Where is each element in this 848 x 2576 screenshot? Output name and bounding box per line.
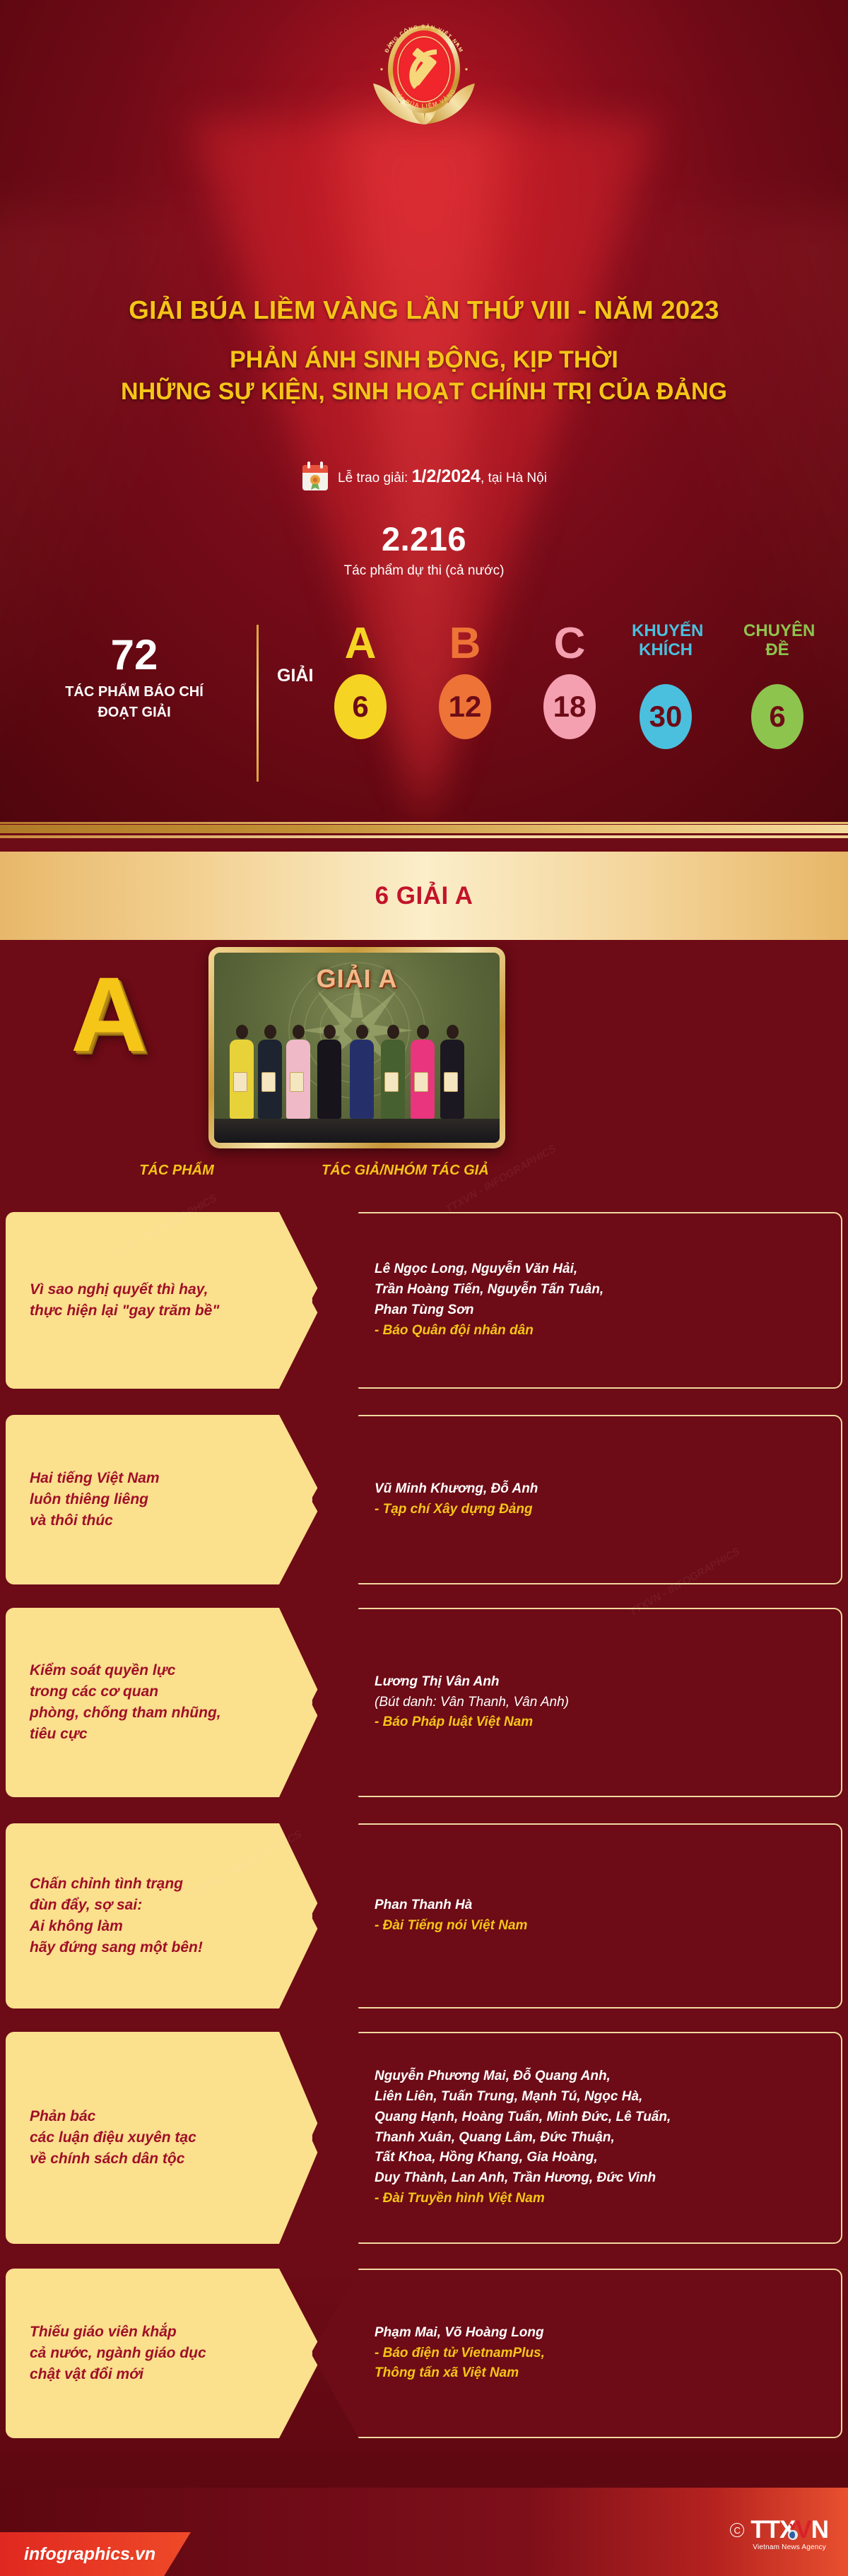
page-title-line1: GIẢI BÚA LIỀM VÀNG LẦN THỨ VIII - NĂM 20… <box>0 295 848 325</box>
certificate-icon <box>444 1072 458 1092</box>
award-work-title-line: cả nước, ngành giáo dục <box>30 2343 206 2364</box>
prize-badge-label: KHUYẾNKHÍCH <box>632 622 700 660</box>
agency-logo-text: TTXVN Vietnam News Agency <box>750 2517 828 2551</box>
prize-badge-label: CHUYÊNĐỀ <box>743 622 811 660</box>
award-work-title-line: Hai tiếng Việt Nam <box>30 1468 160 1489</box>
award-work-title-line: về chính sách dân tộc <box>30 2148 196 2170</box>
ceremony-prefix: Lễ trao giải: <box>338 471 412 486</box>
award-row: Vì sao nghị quyết thì hay,thực hiện lại … <box>0 1212 848 1389</box>
prize-badge-label: A <box>326 622 394 666</box>
band-line-1 <box>0 822 848 824</box>
photo-person-head <box>324 1025 336 1039</box>
prize-badge-5: CHUYÊNĐỀ6 <box>743 622 811 660</box>
total-awarded-caption: TÁC PHẨM BÁO CHÍ ĐOẠT GIẢI <box>21 682 247 723</box>
award-authors: Lương Thị Vân Anh <box>375 1672 569 1693</box>
award-author-card: Vũ Minh Khương, Đỗ Anh- Tạp chí Xây dựng… <box>311 1415 842 1584</box>
photo-person-head <box>264 1025 276 1039</box>
photo-person <box>411 1025 435 1119</box>
photo-person <box>258 1025 282 1119</box>
award-work-card: Phản báccác luận điệu xuyên tạcvề chính … <box>6 2032 324 2244</box>
total-awarded-caption-1: TÁC PHẨM BÁO CHÍ <box>21 682 247 702</box>
award-row: Phản báccác luận điệu xuyên tạcvề chính … <box>0 2032 848 2244</box>
award-author-card: Phan Thanh Hà- Đài Tiếng nói Việt Nam <box>311 1823 842 2009</box>
award-authors: Phan Thanh Hà <box>375 1895 527 1916</box>
award-work-title-line: các luận điệu xuyên tạc <box>30 2127 196 2148</box>
award-work-title-line: Kiểm soát quyền lực <box>30 1660 221 1681</box>
award-outlet-line: - Đài Tiếng nói Việt Nam <box>375 1916 527 1936</box>
award-authors-line: Thanh Xuân, Quang Lâm, Đức Thuận, <box>375 2128 671 2148</box>
award-work-title: Thiếu giáo viên khắpcả nước, ngành giáo … <box>6 2322 263 2384</box>
award-work-title: Vì sao nghị quyết thì hay,thực hiện lại … <box>6 1279 276 1322</box>
prize-badge-label: B <box>431 622 499 666</box>
prize-badge-count: 30 <box>640 684 692 749</box>
award-author-card: Nguyễn Phương Mai, Đỗ Quang Anh,Liên Liê… <box>311 2032 842 2244</box>
photo-person <box>381 1025 405 1119</box>
award-author-card: Lê Ngọc Long, Nguyễn Văn Hải,Trần Hoàng … <box>311 1212 842 1389</box>
award-outlet-line: - Báo điện tử VietnamPlus, <box>375 2343 545 2364</box>
award-work-card: Thiếu giáo viên khắpcả nước, ngành giáo … <box>6 2269 324 2438</box>
award-authors: Lê Ngọc Long, Nguyễn Văn Hải,Trần Hoàng … <box>375 1259 603 1321</box>
ceremony-date-row: Lễ trao giải: 1/2/2024, tại Hà Nội <box>0 461 848 492</box>
calendar-icon <box>301 461 329 492</box>
prize-badge-count: 6 <box>751 684 803 749</box>
photo-person <box>317 1025 341 1119</box>
ceremony-date: 1/2/2024 <box>412 466 481 486</box>
photo-person <box>350 1025 374 1119</box>
award-work-card: Kiểm soát quyền lựctrong các cơ quanphòn… <box>6 1608 324 1797</box>
band-line-2 <box>0 825 848 833</box>
site-url: infographics.vn <box>0 2544 155 2565</box>
photo-person <box>440 1025 464 1119</box>
award-author-card: Phạm Mai, Võ Hoàng Long- Báo điện tử Vie… <box>311 2269 842 2438</box>
award-work-title-line: thực hiện lại "gay trăm bề" <box>30 1300 219 1322</box>
page-title-line2b: NHỮNG SỰ KIỆN, SINH HOẠT CHÍNH TRỊ CỦA Đ… <box>0 376 848 408</box>
award-author-text: Lương Thị Vân Anh(Bút danh: Vân Thanh, V… <box>312 1672 587 1734</box>
page-footer: infographics.vn C TTXVN Vietnam News Age… <box>0 2488 848 2576</box>
entries-count: 2.216 <box>0 519 848 558</box>
award-authors-line: Duy Thành, Lan Anh, Trần Hương, Đức Vinh <box>375 2168 671 2189</box>
photo-person-head <box>387 1025 399 1039</box>
award-photo-inner: GIẢI A <box>214 953 500 1143</box>
award-work-title: Kiểm soát quyền lựctrong các cơ quanphòn… <box>6 1660 278 1744</box>
award-penname-line: (Bút danh: Vân Thanh, Vân Anh) <box>375 1693 569 1713</box>
column-header-author: TÁC GIẢ/NHÓM TÁC GIẢ <box>322 1163 489 1179</box>
award-work-title-line: chật vật đổi mới <box>30 2364 206 2385</box>
award-outlet: - Báo điện tử VietnamPlus,Thông tấn xã V… <box>375 2343 545 2384</box>
award-outlet: - Tạp chí Xây dựng Đảng <box>375 1500 538 1520</box>
photo-person-body <box>317 1040 341 1119</box>
prize-badge-label2: ĐỀ <box>743 641 811 660</box>
watermark: TTXVN - INFOGRAPHICS <box>444 1143 558 1216</box>
prize-badge-1: A6 <box>326 622 394 666</box>
award-author-text: Nguyễn Phương Mai, Đỗ Quang Anh,Liên Liê… <box>312 2066 689 2209</box>
award-work-card: Vì sao nghị quyết thì hay,thực hiện lại … <box>6 1212 324 1389</box>
award-work-title: Hai tiếng Việt Namluôn thiêng liêngvà th… <box>6 1468 216 1531</box>
award-outlet-line: - Tạp chí Xây dựng Đảng <box>375 1500 538 1520</box>
award-outlet-line: - Báo Pháp luật Việt Nam <box>375 1712 569 1733</box>
award-authors-line: Liên Liên, Tuấn Trung, Mạnh Tú, Ngọc Hà, <box>375 2087 671 2107</box>
total-awarded-caption-2: ĐOẠT GIẢI <box>21 702 247 723</box>
award-authors-line: Phan Thanh Hà <box>375 1895 527 1916</box>
award-work-title: Chấn chỉnh tình trạngđùn đẩy, sợ sai:Ai … <box>6 1874 259 1958</box>
award-work-title-line: phòng, chống tham nhũng, <box>30 1702 221 1724</box>
photo-person-head <box>236 1025 248 1039</box>
award-outlet: - Báo Pháp luật Việt Nam <box>375 1712 569 1733</box>
prize-badge-3: C18 <box>536 622 603 666</box>
award-outlet-line: Thông tấn xã Việt Nam <box>375 2363 545 2384</box>
award-row: Kiểm soát quyền lựctrong các cơ quanphòn… <box>0 1608 848 1797</box>
photo-person-head <box>447 1025 459 1039</box>
certificate-icon <box>414 1072 428 1092</box>
certificate-icon <box>233 1072 247 1092</box>
prize-badge-2: B12 <box>431 622 499 666</box>
award-authors: Vũ Minh Khương, Đỗ Anh <box>375 1479 538 1500</box>
prize-badge-count: 12 <box>439 674 491 739</box>
award-work-title-line: hãy đứng sang một bên! <box>30 1937 203 1958</box>
award-work-title-line: trong các cơ quan <box>30 1681 221 1702</box>
ceremony-date-text: Lễ trao giải: 1/2/2024, tại Hà Nội <box>338 466 547 487</box>
award-authors-line: Lê Ngọc Long, Nguyễn Văn Hải, <box>375 1259 603 1280</box>
award-outlet: - Đài Truyền hình Việt Nam <box>375 2189 671 2209</box>
copyright-icon: C <box>730 2523 744 2537</box>
certificate-icon <box>384 1072 399 1092</box>
award-author-text: Vũ Minh Khương, Đỗ Anh- Tạp chí Xây dựng… <box>312 1479 556 1520</box>
ceremony-suffix: , tại Hà Nội <box>481 471 547 486</box>
page-title-line2: PHẢN ÁNH SINH ĐỘNG, KỊP THỜI NHỮNG SỰ KI… <box>0 344 848 408</box>
award-row: Hai tiếng Việt Namluôn thiêng liêngvà th… <box>0 1415 848 1584</box>
photo-caption: GIẢI A <box>214 964 500 994</box>
award-authors-line: Lương Thị Vân Anh <box>375 1672 569 1693</box>
hero-banner: ĐẢNG CỘNG SẢN VIỆT NAM GIẢI BÚA LIỀM VÀN… <box>0 0 848 822</box>
award-author-text: Lê Ngọc Long, Nguyễn Văn Hải,Trần Hoàng … <box>312 1259 622 1341</box>
site-tag: infographics.vn <box>0 2532 191 2576</box>
award-row: Chấn chỉnh tình trạngđùn đẩy, sợ sai:Ai … <box>0 1823 848 2009</box>
award-authors-line: Phạm Mai, Võ Hoàng Long <box>375 2323 545 2343</box>
agency-name-3: N <box>811 2516 828 2543</box>
award-work-title-line: và thôi thúc <box>30 1510 160 1531</box>
award-work-title-line: Chấn chỉnh tình trạng <box>30 1874 203 1895</box>
prize-badge-label: C <box>536 622 603 666</box>
prize-badge-4: KHUYẾNKHÍCH30 <box>632 622 700 660</box>
award-outlet: - Đài Tiếng nói Việt Nam <box>375 1916 527 1936</box>
prize-prefix-label: GIẢI <box>277 666 313 686</box>
award-authors-line: Nguyễn Phương Mai, Đỗ Quang Anh, <box>375 2066 671 2087</box>
award-author-text: Phạm Mai, Võ Hoàng Long- Báo điện tử Vie… <box>312 2323 563 2384</box>
award-authors-line: Vũ Minh Khương, Đỗ Anh <box>375 1479 538 1500</box>
agency-subtitle: Vietnam News Agency <box>750 2543 828 2551</box>
photo-person <box>230 1025 254 1119</box>
award-authors-line: Quang Hạnh, Hoàng Tuấn, Minh Đức, Lê Tuấ… <box>375 2107 671 2128</box>
photo-stage <box>214 1119 500 1143</box>
award-author-text: Phan Thanh Hà- Đài Tiếng nói Việt Nam <box>312 1895 546 1936</box>
prize-badge-label2: KHÍCH <box>632 641 700 660</box>
stats-row: 72 TÁC PHẨM BÁO CHÍ ĐOẠT GIẢI GIẢI A6B12… <box>0 622 848 792</box>
photo-person-head <box>293 1025 305 1039</box>
prize-badge-count: 6 <box>334 674 387 739</box>
award-authors: Phạm Mai, Võ Hoàng Long <box>375 2323 545 2343</box>
column-header-work: TÁC PHẨM <box>42 1163 311 1179</box>
section-title: 6 GIẢI A <box>375 882 473 910</box>
award-work-title-line: Ai không làm <box>30 1916 203 1937</box>
photo-person-head <box>356 1025 368 1039</box>
awards-section: A GIẢI A TÁC PHẨM TÁC GIẢ/NHÓM TÁC GIẢ <box>0 940 848 2488</box>
award-work-title-line: Thiếu giáo viên khắp <box>30 2322 206 2343</box>
award-work-card: Chấn chỉnh tình trạngđùn đẩy, sợ sai:Ai … <box>6 1823 324 2009</box>
award-work-title-line: tiêu cực <box>30 1724 221 1745</box>
total-awarded-block: 72 TÁC PHẨM BÁO CHÍ ĐOẠT GIẢI <box>21 635 247 723</box>
prize-badge-count: 18 <box>543 674 596 739</box>
band-main: 6 GIẢI A <box>0 852 848 940</box>
award-author-card: Lương Thị Vân Anh(Bút danh: Vân Thanh, V… <box>311 1608 842 1797</box>
award-ceremony-photo: GIẢI A <box>208 947 505 1148</box>
award-authors-line: Phan Tùng Sơn <box>375 1300 603 1321</box>
award-work-title-line: Phản bác <box>30 2106 196 2127</box>
award-work-title-line: Vì sao nghị quyết thì hay, <box>30 1279 219 1300</box>
award-outlet-line: - Đài Truyền hình Việt Nam <box>375 2189 671 2209</box>
total-awarded-number: 72 <box>21 635 247 676</box>
award-authors-line: Tất Khoa, Hồng Khang, Gia Hoàng, <box>375 2148 671 2168</box>
award-authors: Nguyễn Phương Mai, Đỗ Quang Anh,Liên Liê… <box>375 2066 671 2189</box>
photo-person-body <box>350 1040 374 1119</box>
prize-badges: A6B12C18KHUYẾNKHÍCH30CHUYÊNĐỀ6 <box>326 622 821 784</box>
section-band: 6 GIẢI A <box>0 822 848 940</box>
grade-letter: A <box>71 961 147 1067</box>
award-row: Thiếu giáo viên khắpcả nước, ngành giáo … <box>0 2269 848 2438</box>
certificate-icon <box>261 1072 276 1092</box>
agency-name: TTXVN <box>750 2517 828 2542</box>
certificate-icon <box>290 1072 304 1092</box>
award-work-title: Phản báccác luận điệu xuyên tạcvề chính … <box>6 2106 253 2169</box>
photo-person-head <box>417 1025 429 1039</box>
award-work-title-line: luôn thiêng liêng <box>30 1489 160 1510</box>
award-authors-line: Trần Hoàng Tiến, Nguyễn Tấn Tuân, <box>375 1280 603 1300</box>
award-work-card: Hai tiếng Việt Namluôn thiêng liêngvà th… <box>6 1415 324 1584</box>
medal-icon <box>787 2522 799 2540</box>
award-outlet-line: - Báo Quân đội nhân dân <box>375 1321 603 1341</box>
entries-caption: Tác phẩm dự thi (cả nước) <box>0 563 848 579</box>
agency-logo: C TTXVN Vietnam News Agency <box>730 2517 828 2551</box>
award-work-title-line: đùn đẩy, sợ sai: <box>30 1895 203 1916</box>
award-penname: (Bút danh: Vân Thanh, Vân Anh) <box>375 1693 569 1713</box>
page-title-line2a: PHẢN ÁNH SINH ĐỘNG, KỊP THỜI <box>0 344 848 376</box>
stats-divider <box>257 625 259 782</box>
band-gap <box>0 838 848 852</box>
award-outlet: - Báo Quân đội nhân dân <box>375 1321 603 1341</box>
photo-person <box>286 1025 310 1119</box>
party-emblem-icon: ĐẢNG CỘNG SẢN VIỆT NAM GIẢI BÚA LIỀM VÀN… <box>353 18 495 124</box>
